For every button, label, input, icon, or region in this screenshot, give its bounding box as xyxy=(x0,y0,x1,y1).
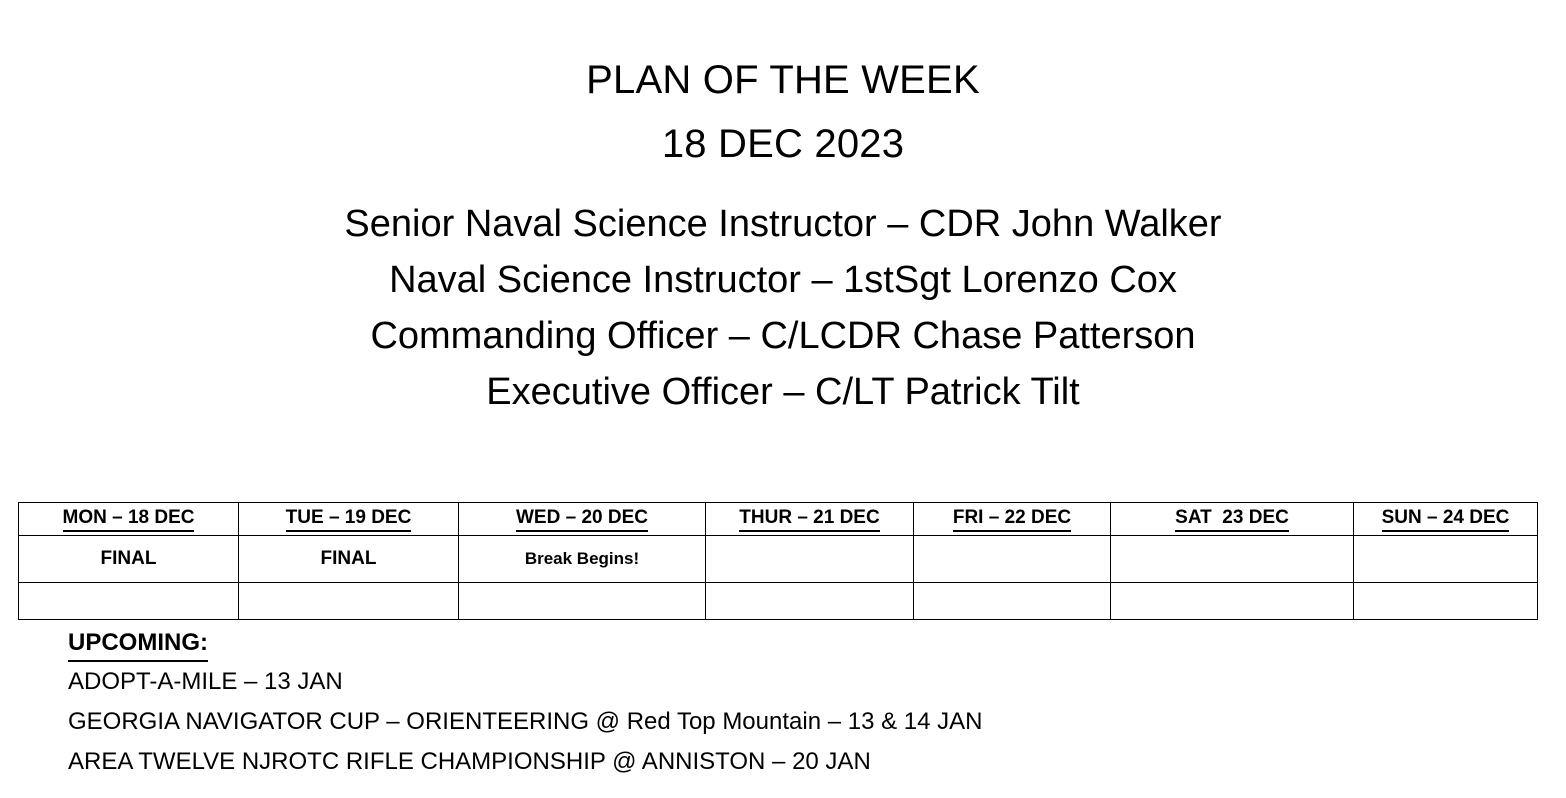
week-schedule-table: MON – 18 DEC TUE – 19 DEC WED – 20 DEC T… xyxy=(18,502,1538,620)
table-header-wed: WED – 20 DEC xyxy=(459,503,706,536)
cell-thur-activity xyxy=(706,536,914,583)
staff-senior-naval-science-instructor: Senior Naval Science Instructor – CDR Jo… xyxy=(0,196,1566,252)
staff-naval-science-instructor: Naval Science Instructor – 1stSgt Lorenz… xyxy=(0,252,1566,308)
title-line-plan-of-the-week: PLAN OF THE WEEK xyxy=(0,48,1566,112)
cell-sat-activity xyxy=(1111,536,1354,583)
table-header-wed-label: WED – 20 DEC xyxy=(516,507,648,532)
upcoming-item-georgia-navigator-cup: GEORGIA NAVIGATOR CUP – ORIENTEERING @ R… xyxy=(68,702,1468,742)
table-row-activities: FINAL FINAL Break Begins! xyxy=(19,536,1538,583)
page-title: PLAN OF THE WEEK 18 DEC 2023 xyxy=(0,48,1566,176)
table-row-empty xyxy=(19,583,1538,620)
table-header-row: MON – 18 DEC TUE – 19 DEC WED – 20 DEC T… xyxy=(19,503,1538,536)
table-header-fri: FRI – 22 DEC xyxy=(914,503,1111,536)
staff-executive-officer: Executive Officer – C/LT Patrick Tilt xyxy=(0,364,1566,420)
table-header-sat: SAT 23 DEC xyxy=(1111,503,1354,536)
cell-thur-empty xyxy=(706,583,914,620)
cell-fri-activity xyxy=(914,536,1111,583)
table-header-tue: TUE – 19 DEC xyxy=(239,503,459,536)
upcoming-heading-wrap: UPCOMING: xyxy=(68,626,1468,662)
cell-tue-activity: FINAL xyxy=(239,536,459,583)
cell-mon-empty xyxy=(19,583,239,620)
cell-wed-activity: Break Begins! xyxy=(459,536,706,583)
cell-fri-empty xyxy=(914,583,1111,620)
table-header-sat-label: SAT 23 DEC xyxy=(1175,507,1289,532)
cell-sat-empty xyxy=(1111,583,1354,620)
document-page: PLAN OF THE WEEK 18 DEC 2023 Senior Nava… xyxy=(0,0,1566,798)
table-header-thur-label: THUR – 21 DEC xyxy=(739,507,879,532)
staff-roster: Senior Naval Science Instructor – CDR Jo… xyxy=(0,196,1566,420)
table-header-mon-label: MON – 18 DEC xyxy=(63,507,195,532)
table-header-sun: SUN – 24 DEC xyxy=(1354,503,1538,536)
cell-sun-empty xyxy=(1354,583,1538,620)
cell-wed-empty xyxy=(459,583,706,620)
cell-sun-activity xyxy=(1354,536,1538,583)
upcoming-section: UPCOMING: ADOPT-A-MILE – 13 JAN GEORGIA … xyxy=(68,626,1468,782)
upcoming-item-area-twelve-rifle-championship: AREA TWELVE NJROTC RIFLE CHAMPIONSHIP @ … xyxy=(68,742,1468,782)
cell-tue-empty xyxy=(239,583,459,620)
cell-mon-activity: FINAL xyxy=(19,536,239,583)
upcoming-item-adopt-a-mile: ADOPT-A-MILE – 13 JAN xyxy=(68,662,1468,702)
table-header-fri-label: FRI – 22 DEC xyxy=(953,507,1071,532)
table-header-sun-label: SUN – 24 DEC xyxy=(1382,507,1510,532)
upcoming-heading: UPCOMING: xyxy=(68,626,208,662)
title-line-date: 18 DEC 2023 xyxy=(0,112,1566,176)
staff-commanding-officer: Commanding Officer – C/LCDR Chase Patter… xyxy=(0,308,1566,364)
table-header-mon: MON – 18 DEC xyxy=(19,503,239,536)
table-header-thur: THUR – 21 DEC xyxy=(706,503,914,536)
table-header-tue-label: TUE – 19 DEC xyxy=(286,507,412,532)
